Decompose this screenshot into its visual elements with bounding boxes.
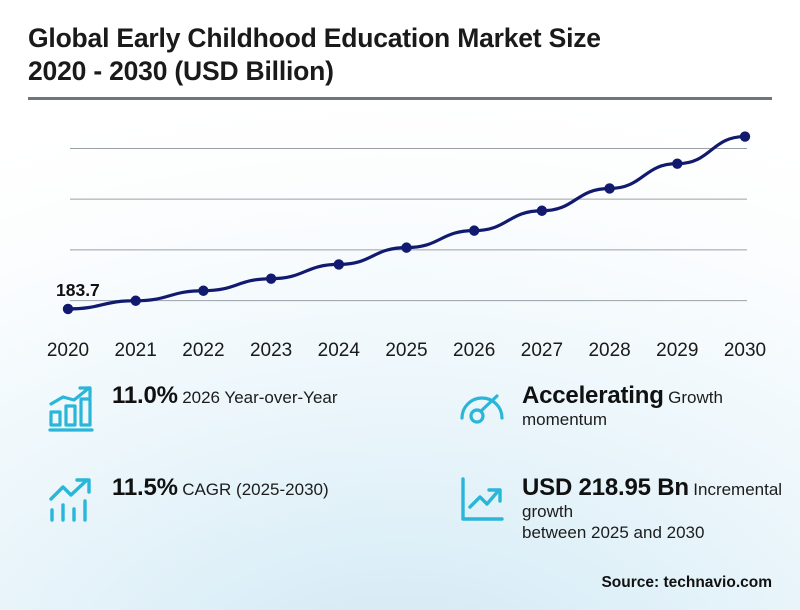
x-tick-2029: 2029 xyxy=(656,340,698,362)
x-tick-2020: 2020 xyxy=(47,340,89,362)
x-tick-2023: 2023 xyxy=(250,340,292,362)
x-axis-labels: 2020202120222023202420252026202720282029… xyxy=(0,340,800,370)
data-point-2024 xyxy=(334,259,344,269)
data-point-2020 xyxy=(63,304,73,314)
stat-label: 2026 Year-over-Year xyxy=(182,388,337,407)
source-note: Source: technavio.com xyxy=(601,574,772,592)
data-point-2022 xyxy=(198,286,208,296)
stat-body: USD 218.95 Bn Incremental growth between… xyxy=(522,474,800,543)
chart-canvas xyxy=(0,106,800,374)
stat-label: CAGR (2025-2030) xyxy=(182,480,328,499)
line-chart: 183.7 xyxy=(0,106,800,374)
x-tick-2025: 2025 xyxy=(385,340,427,362)
x-tick-2030: 2030 xyxy=(724,340,766,362)
stat-value: 11.5% xyxy=(112,474,178,501)
stat-card-yoy: 11.0% 2026 Year-over-Year xyxy=(46,382,338,434)
axis-trend-up-icon xyxy=(456,474,508,526)
data-point-2030 xyxy=(740,131,750,141)
data-point-2028 xyxy=(604,183,614,193)
x-tick-2024: 2024 xyxy=(318,340,360,362)
x-tick-2022: 2022 xyxy=(182,340,224,362)
data-point-2027 xyxy=(537,206,547,216)
page-title: Global Early Childhood Education Market … xyxy=(28,22,772,88)
stat-body: Accelerating Growth momentum xyxy=(522,382,800,431)
trend-up-bars-icon xyxy=(46,474,98,526)
data-point-2021 xyxy=(131,296,141,306)
stat-card-incremental: USD 218.95 Bn Incremental growth between… xyxy=(456,474,800,543)
data-point-2029 xyxy=(672,158,682,168)
series-line xyxy=(68,137,745,309)
x-tick-2027: 2027 xyxy=(521,340,563,362)
bar-chart-growth-icon xyxy=(46,382,98,434)
data-label-2020: 183.7 xyxy=(56,280,100,301)
chart-gridlines xyxy=(70,148,747,300)
stat-card-momentum: Accelerating Growth momentum xyxy=(456,382,800,434)
data-point-2025 xyxy=(401,242,411,252)
stat-value: 11.0% xyxy=(112,382,178,409)
stat-body: 11.0% 2026 Year-over-Year xyxy=(112,382,338,410)
stat-value: USD 218.95 Bn xyxy=(522,474,689,501)
x-tick-2021: 2021 xyxy=(115,340,157,362)
series-markers xyxy=(63,131,750,314)
chart-header: Global Early Childhood Education Market … xyxy=(28,22,772,88)
stat-value: Accelerating xyxy=(522,382,664,409)
data-point-2023 xyxy=(266,274,276,284)
stat-card-cagr: 11.5% CAGR (2025-2030) xyxy=(46,474,329,526)
x-tick-2028: 2028 xyxy=(588,340,630,362)
stat-cards: 11.0% 2026 Year-over-Year 11.5% CAGR (20… xyxy=(0,382,800,562)
speedometer-icon xyxy=(456,382,508,434)
header-divider xyxy=(28,97,772,100)
stat-body: 11.5% CAGR (2025-2030) xyxy=(112,474,329,502)
x-tick-2026: 2026 xyxy=(453,340,495,362)
data-point-2026 xyxy=(469,225,479,235)
